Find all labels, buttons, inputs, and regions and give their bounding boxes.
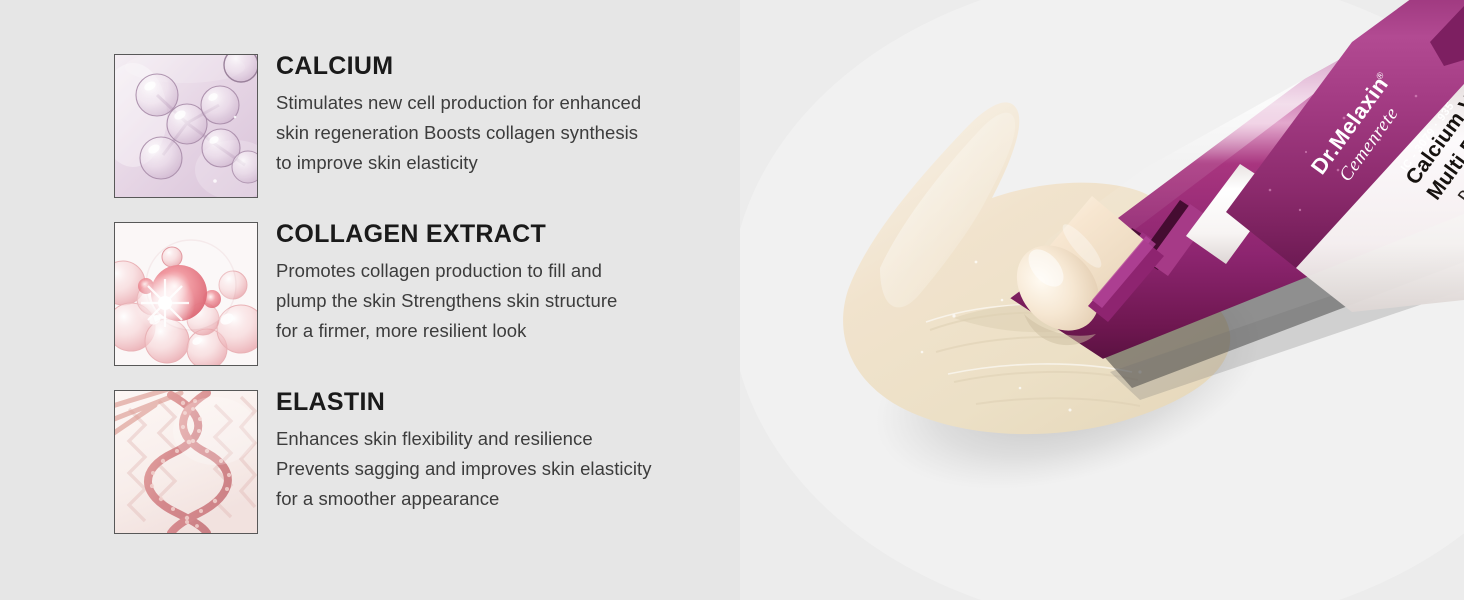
ingredient-row-elastin: ELASTIN Enhances skin flexibility and re… [114,390,754,558]
ingredient-text-calcium: CALCIUM Stimulates new cell production f… [276,54,754,178]
ingredient-text-elastin: ELASTIN Enhances skin flexibility and re… [276,390,754,514]
ingredient-description: Enhances skin flexibility and resilience… [276,424,754,514]
ingredient-infographic: CALCIUM Stimulates new cell production f… [0,0,1464,600]
description-line: for a firmer, more resilient look [276,316,754,346]
pink-bubbles-glow-image [114,222,258,366]
description-line: Enhances skin flexibility and resilience [276,424,754,454]
ingredient-description: Promotes collagen production to fill and… [276,256,754,346]
ingredient-text-collagen-extract: COLLAGEN EXTRACT Promotes collagen produ… [276,222,754,346]
ingredient-row-calcium: CALCIUM Stimulates new cell production f… [114,54,754,222]
description-line: plump the skin Strengthens skin structur… [276,286,754,316]
molecule-bubbles-image [114,54,258,198]
description-line: Promotes collagen production to fill and [276,256,754,286]
product-photo: Dr.Melaxin ® Cemenrete IC - 3079 · 935 C… [740,0,1464,600]
description-line: skin regeneration Boosts collagen synthe… [276,118,754,148]
ingredient-description: Stimulates new cell production for enhan… [276,88,754,178]
description-line: to improve skin elasticity [276,148,754,178]
ingredient-list: CALCIUM Stimulates new cell production f… [114,54,754,558]
description-line: Stimulates new cell production for enhan… [276,88,754,118]
dna-helix-image [114,390,258,534]
ingredient-title: COLLAGEN EXTRACT [276,222,754,247]
ingredient-title: ELASTIN [276,390,754,415]
ingredient-row-collagen-extract: COLLAGEN EXTRACT Promotes collagen produ… [114,222,754,390]
description-line: Prevents sagging and improves skin elast… [276,454,754,484]
description-line: for a smoother appearance [276,484,754,514]
ingredient-title: CALCIUM [276,54,754,79]
